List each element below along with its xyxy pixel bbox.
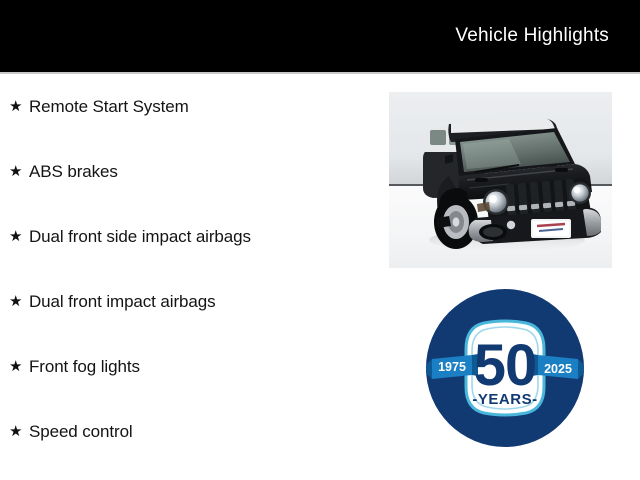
star-bullet-icon: ★ <box>9 99 29 114</box>
list-item-label: Remote Start System <box>29 97 189 117</box>
list-item-label: Front fog lights <box>29 357 140 377</box>
star-bullet-icon: ★ <box>9 164 29 179</box>
badge-number: 50 <box>474 333 537 398</box>
vehicle-photo[interactable] <box>389 92 612 268</box>
star-bullet-icon: ★ <box>9 359 29 374</box>
badge-start-year: 1975 <box>438 360 466 374</box>
star-bullet-icon: ★ <box>9 424 29 439</box>
list-item-label: Dual front side impact airbags <box>29 227 251 247</box>
page-header: Vehicle Highlights <box>0 0 640 72</box>
page-title: Vehicle Highlights <box>455 25 609 47</box>
list-item: ★ Dual front side impact airbags <box>0 204 380 269</box>
list-item: ★ Front fog lights <box>0 334 380 399</box>
list-item-label: Speed control <box>29 422 133 442</box>
content-area: ★ Remote Start System ★ ABS brakes ★ Dua… <box>0 74 640 480</box>
list-item-label: Dual front impact airbags <box>29 292 215 312</box>
anniversary-badge[interactable]: 1975 2025 50 -YEARS- <box>424 287 586 449</box>
list-item: ★ ABS brakes <box>0 139 380 204</box>
jeep-illustration <box>389 92 612 268</box>
star-bullet-icon: ★ <box>9 294 29 309</box>
badge-end-year: 2025 <box>544 362 572 376</box>
vehicle-highlights-list: ★ Remote Start System ★ ABS brakes ★ Dua… <box>0 74 380 464</box>
list-item: ★ Speed control <box>0 399 380 464</box>
list-item: ★ Dual front impact airbags <box>0 269 380 334</box>
star-bullet-icon: ★ <box>9 229 29 244</box>
list-item-label: ABS brakes <box>29 162 118 182</box>
list-item: ★ Remote Start System <box>0 74 380 139</box>
badge-word: -YEARS- <box>472 391 537 408</box>
badge-graphic: 1975 2025 50 -YEARS- <box>424 287 586 449</box>
